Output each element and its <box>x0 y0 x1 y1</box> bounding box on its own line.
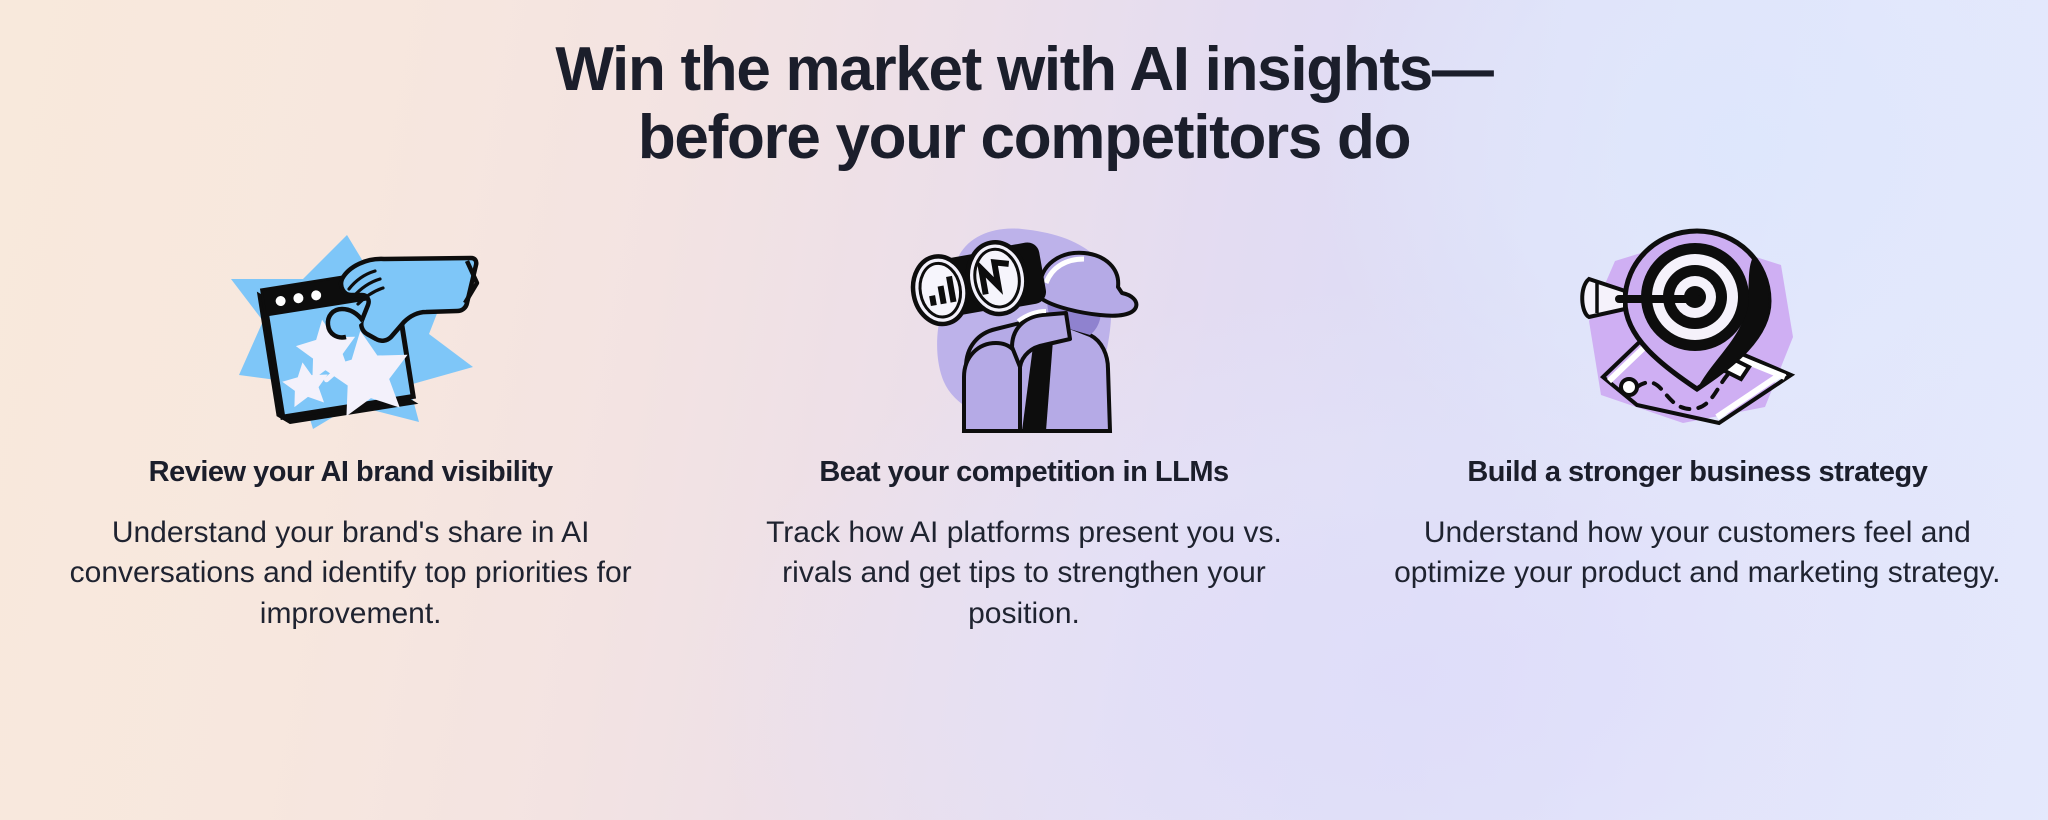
headline-line-2: before your competitors do <box>0 104 2048 172</box>
target-map-pin-dart-icon <box>1567 217 1827 432</box>
feature-card-list: Review your AI brand visibility Understa… <box>0 217 2048 634</box>
card-body: Understand your brand's share in AI conv… <box>46 513 656 634</box>
card-title: Beat your competition in LLMs <box>819 456 1228 489</box>
hero-content: Win the market with AI insights— before … <box>0 0 2048 820</box>
card-body: Track how AI platforms present you vs. r… <box>729 513 1319 634</box>
card-title: Build a stronger business strategy <box>1467 456 1927 489</box>
browser-stars-hand-icon <box>221 217 481 432</box>
feature-card-brand-visibility: Review your AI brand visibility Understa… <box>14 217 687 634</box>
card-body: Understand how your customers feel and o… <box>1387 513 2007 593</box>
spy-binoculars-charts-icon <box>894 217 1154 432</box>
card-title: Review your AI brand visibility <box>149 456 553 489</box>
hero-section: Win the market with AI insights— before … <box>0 0 2048 820</box>
feature-card-beat-competition: Beat your competition in LLMs Track how … <box>687 217 1360 634</box>
page-title: Win the market with AI insights— before … <box>0 0 2048 171</box>
headline-line-1: Win the market with AI insights— <box>0 36 2048 104</box>
feature-card-business-strategy: Build a stronger business strategy Under… <box>1361 217 2034 593</box>
